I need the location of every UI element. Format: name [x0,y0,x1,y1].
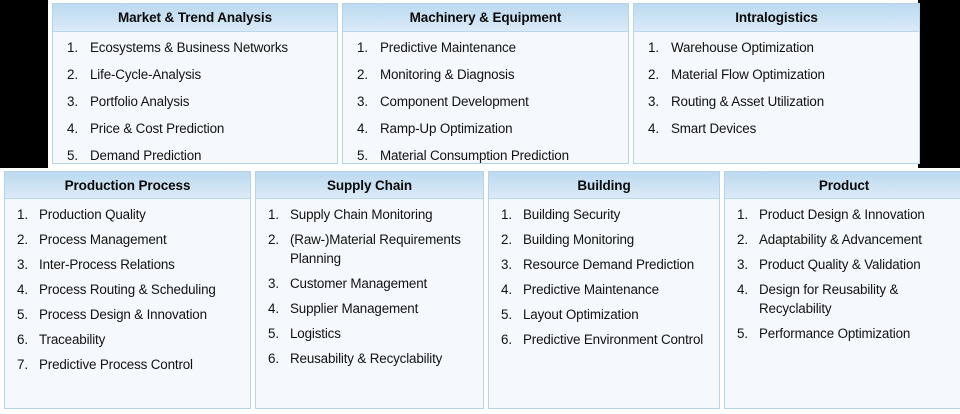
list-item[interactable]: Predictive Process Control [9,355,246,374]
list-item[interactable]: Production Quality [9,205,246,224]
bottom-edge-strip [0,409,960,414]
item-list-product: Product Design & Innovation Adaptability… [729,205,959,343]
list-item[interactable]: Component Development [347,92,624,111]
panel-intralogistics[interactable]: Intralogistics Warehouse Optimization Ma… [633,3,920,164]
list-item[interactable]: Adaptability & Advancement [729,230,959,249]
list-item[interactable]: Resource Demand Prediction [493,255,715,274]
panel-body-building: Building Security Building Monitoring Re… [489,199,719,408]
panel-body-product: Product Design & Innovation Adaptability… [725,199,960,408]
list-item[interactable]: Performance Optimization [729,324,959,343]
list-item[interactable]: Process Management [9,230,246,249]
panel-market-trend-analysis[interactable]: Market & Trend Analysis Ecosystems & Bus… [52,3,338,164]
panel-body-machinery-equipment: Predictive Maintenance Monitoring & Diag… [343,32,628,164]
panel-product[interactable]: Product Product Design & Innovation Adap… [724,171,960,409]
category-row-top: Market & Trend Analysis Ecosystems & Bus… [48,0,918,168]
list-item[interactable]: Demand Prediction [57,146,333,164]
panel-title-building: Building [489,172,719,199]
panel-production-process[interactable]: Production Process Production Quality Pr… [4,171,251,409]
list-item[interactable]: Process Design & Innovation [9,305,246,324]
list-item[interactable]: Process Routing & Scheduling [9,280,246,299]
list-item[interactable]: Inter-Process Relations [9,255,246,274]
list-item[interactable]: Building Monitoring [493,230,715,249]
panel-title-machinery-equipment: Machinery & Equipment [343,4,628,32]
panel-body-intralogistics: Warehouse Optimization Material Flow Opt… [634,32,919,163]
item-list-intralogistics: Warehouse Optimization Material Flow Opt… [638,38,915,138]
panel-title-supply-chain: Supply Chain [256,172,483,199]
list-item[interactable]: Supplier Management [260,299,479,318]
item-list-building: Building Security Building Monitoring Re… [493,205,715,349]
list-item[interactable]: Ecosystems & Business Networks [57,38,333,57]
list-item[interactable]: Reusability & Recyclability [260,349,479,368]
list-item[interactable]: (Raw-)Material Requirements Planning [260,230,479,268]
item-list-supply-chain: Supply Chain Monitoring (Raw-)Material R… [260,205,479,368]
list-item[interactable]: Portfolio Analysis [57,92,333,111]
panel-title-production-process: Production Process [5,172,250,199]
panel-title-product: Product [725,172,960,199]
list-item[interactable]: Smart Devices [638,119,915,138]
list-item[interactable]: Traceability [9,330,246,349]
list-item[interactable]: Predictive Environment Control [493,330,715,349]
panel-body-production-process: Production Quality Process Management In… [5,199,250,408]
list-item[interactable]: Routing & Asset Utilization [638,92,915,111]
list-item[interactable]: Product Quality & Validation [729,255,959,274]
panel-title-intralogistics: Intralogistics [634,4,919,32]
panel-body-supply-chain: Supply Chain Monitoring (Raw-)Material R… [256,199,483,408]
list-item[interactable]: Ramp-Up Optimization [347,119,624,138]
category-row-bottom: Production Process Production Quality Pr… [0,168,960,414]
list-item[interactable]: Life-Cycle-Analysis [57,65,333,84]
item-list-production-process: Production Quality Process Management In… [9,205,246,374]
item-list-machinery-equipment: Predictive Maintenance Monitoring & Diag… [347,38,624,164]
list-item[interactable]: Logistics [260,324,479,343]
list-item[interactable]: Predictive Maintenance [347,38,624,57]
panel-supply-chain[interactable]: Supply Chain Supply Chain Monitoring (Ra… [255,171,484,409]
slide-canvas: Market & Trend Analysis Ecosystems & Bus… [0,0,960,414]
list-item[interactable]: Design for Reusability & Recyclability [729,280,959,318]
panel-building[interactable]: Building Building Security Building Moni… [488,171,720,409]
list-item[interactable]: Monitoring & Diagnosis [347,65,624,84]
panel-machinery-equipment[interactable]: Machinery & Equipment Predictive Mainten… [342,3,629,164]
list-item[interactable]: Building Security [493,205,715,224]
list-item[interactable]: Material Consumption Prediction [347,146,624,164]
list-item[interactable]: Material Flow Optimization [638,65,915,84]
panel-title-market-trend-analysis: Market & Trend Analysis [53,4,337,32]
list-item[interactable]: Price & Cost Prediction [57,119,333,138]
item-list-market-trend-analysis: Ecosystems & Business Networks Life-Cycl… [57,38,333,164]
list-item[interactable]: Warehouse Optimization [638,38,915,57]
list-item[interactable]: Customer Management [260,274,479,293]
list-item[interactable]: Supply Chain Monitoring [260,205,479,224]
panel-body-market-trend-analysis: Ecosystems & Business Networks Life-Cycl… [53,32,337,164]
list-item[interactable]: Product Design & Innovation [729,205,959,224]
list-item[interactable]: Predictive Maintenance [493,280,715,299]
list-item[interactable]: Layout Optimization [493,305,715,324]
